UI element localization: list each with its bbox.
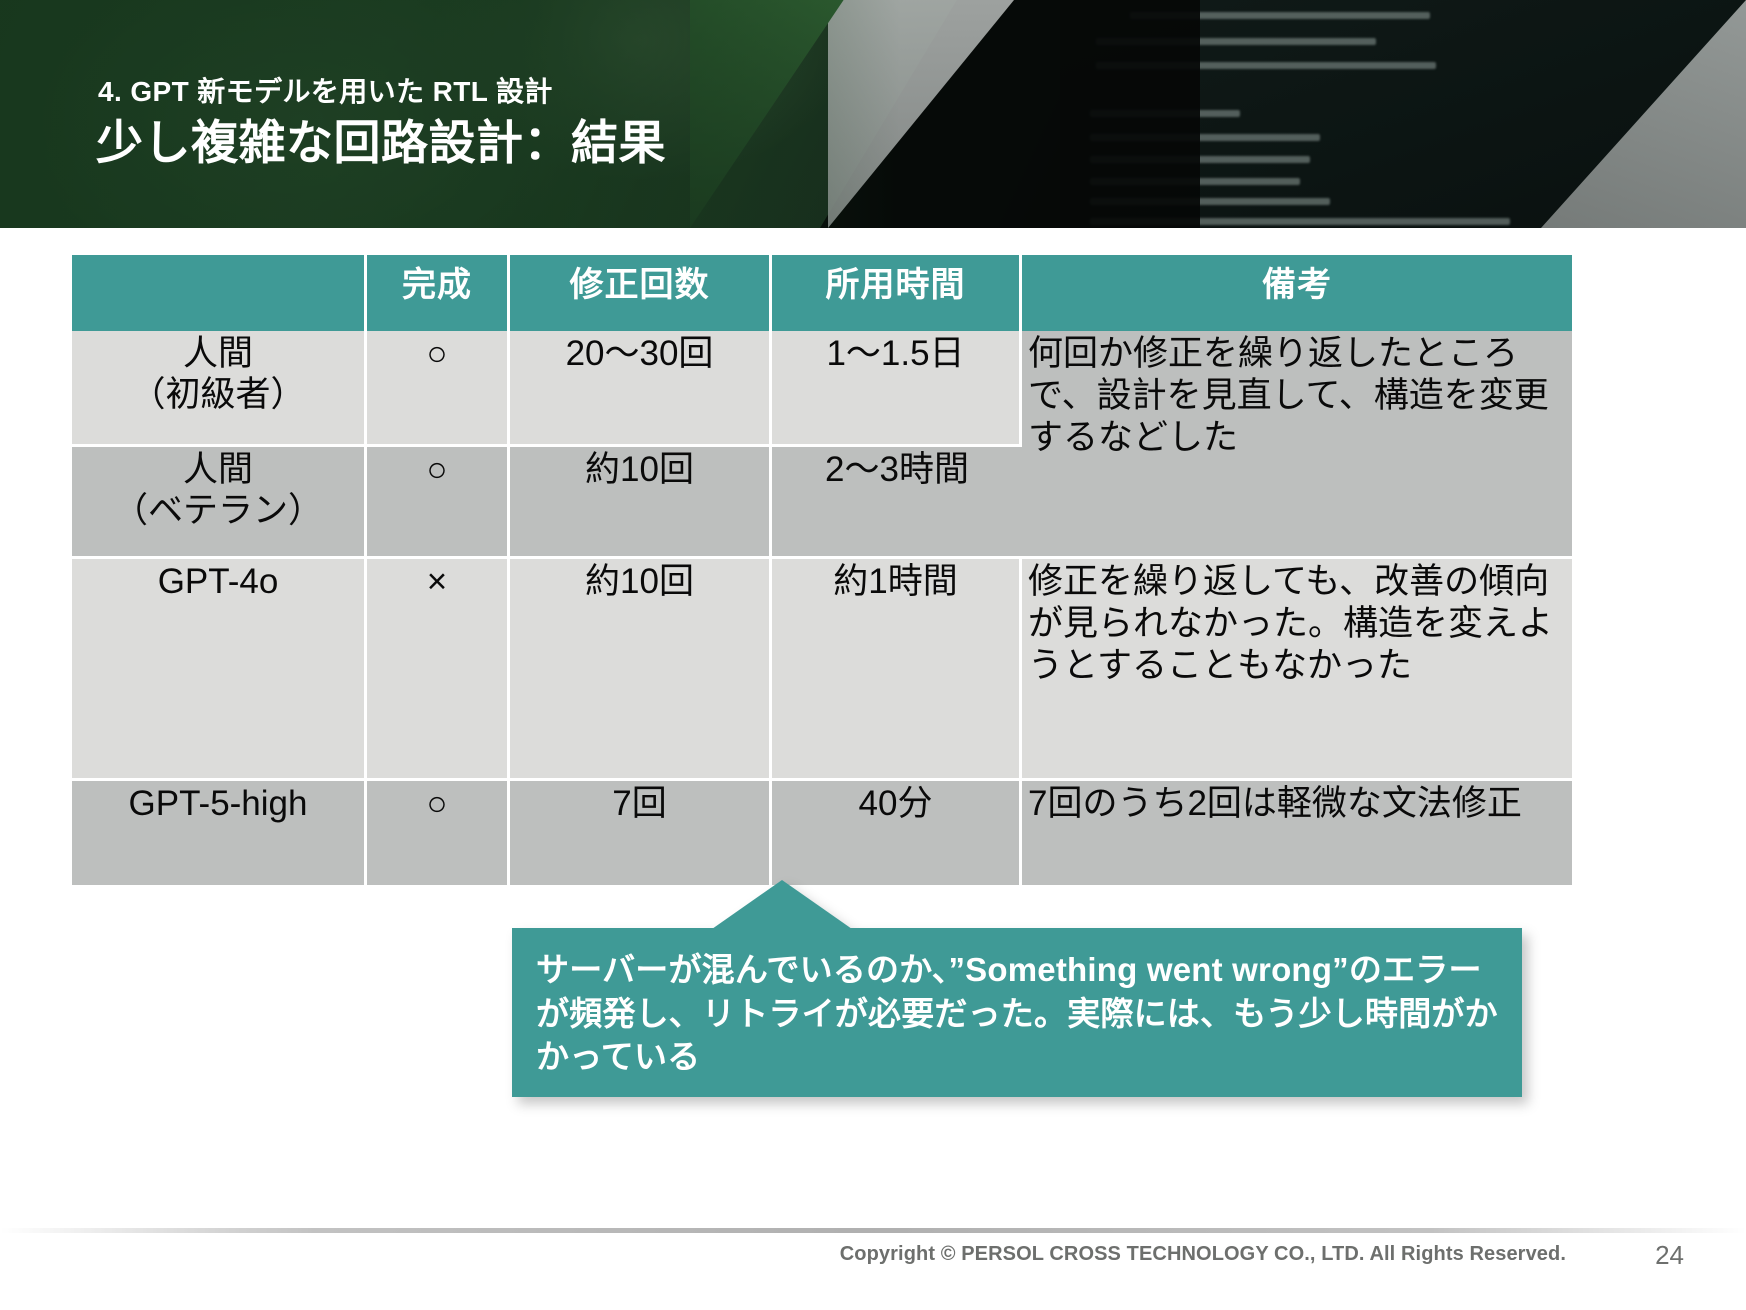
row-label-line1: GPT-4o: [78, 561, 358, 602]
footer-divider: [0, 1228, 1746, 1233]
cell-remark-human-merged: 何回か修正を繰り返したところで、設計を見直して、構造を変更するなどした: [1022, 331, 1572, 559]
column-header-time: 所用時間: [772, 255, 1022, 331]
row-label-line1: 人間: [78, 449, 358, 490]
cell-done: ○: [367, 781, 510, 885]
slide-header-banner: 4. GPT 新モデルを用いた RTL 設計 少し複雑な回路設計：結果: [0, 0, 1746, 228]
cell-remark-gpt4o: 修正を繰り返しても、改善の傾向が見られなかった。構造を変えようとすることもなかっ…: [1022, 559, 1572, 781]
row-label-line2: （初級者）: [78, 374, 358, 415]
row-label-gpt5high: GPT-5-high: [72, 781, 367, 885]
cell-time: 1〜1.5日: [772, 331, 1022, 447]
cell-done: ○: [367, 447, 510, 559]
table-row: 人間 （初級者） ○ 20〜30回 1〜1.5日 何回か修正を繰り返したところで…: [72, 331, 1572, 447]
row-label-human-beginner: 人間 （初級者）: [72, 331, 367, 447]
cell-done: ×: [367, 559, 510, 781]
column-header-blank: [72, 255, 367, 331]
cell-fixes: 20〜30回: [510, 331, 772, 447]
table-header-row: 完成 修正回数 所用時間 備考: [72, 255, 1572, 331]
row-label-human-veteran: 人間 （ベテラン）: [72, 447, 367, 559]
page-number: 24: [1655, 1240, 1684, 1271]
copyright-notice: Copyright © PERSOL CROSS TECHNOLOGY CO.,…: [840, 1243, 1566, 1266]
column-header-remark: 備考: [1022, 255, 1572, 331]
page-title: 少し複雑な回路設計：結果: [96, 104, 666, 173]
column-header-done: 完成: [367, 255, 510, 331]
row-label-line1: GPT-5-high: [78, 783, 358, 824]
cell-fixes: 7回: [510, 781, 772, 885]
cell-remark-gpt5high: 7回のうち2回は軽微な文法修正: [1022, 781, 1572, 885]
cell-time: 約1時間: [772, 559, 1022, 781]
cell-done: ○: [367, 331, 510, 447]
results-table: 完成 修正回数 所用時間 備考 人間 （初級者） ○ 20〜30回 1〜1.5日…: [72, 255, 1572, 885]
cell-fixes: 約10回: [510, 559, 772, 781]
column-header-fixes: 修正回数: [510, 255, 772, 331]
cell-time: 2〜3時間: [772, 447, 1022, 559]
cell-fixes: 約10回: [510, 447, 772, 559]
row-label-line2: （ベテラン）: [78, 490, 358, 531]
row-label-line1: 人間: [78, 333, 358, 374]
callout-text: サーバーが混んでいるのか、”Something went wrong”のエラーが…: [512, 928, 1522, 1097]
cell-time: 40分: [772, 781, 1022, 885]
table-row: GPT-5-high ○ 7回 40分 7回のうち2回は軽微な文法修正: [72, 781, 1572, 885]
table-row: GPT-4o × 約10回 約1時間 修正を繰り返しても、改善の傾向が見られなか…: [72, 559, 1572, 781]
row-label-gpt4o: GPT-4o: [72, 559, 367, 781]
